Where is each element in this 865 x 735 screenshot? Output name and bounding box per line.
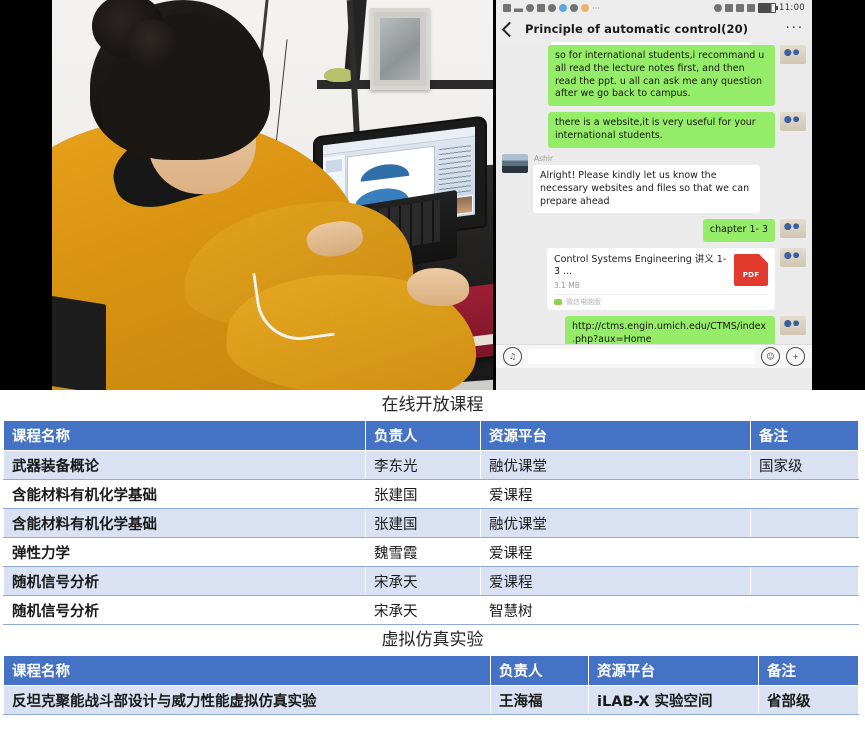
file-source-label: 微信电脑版 xyxy=(566,297,601,307)
cell-course-name: 随机信号分析 xyxy=(4,567,366,596)
emoji-icon[interactable]: ☺ xyxy=(761,347,780,366)
bubble-wrap: Ashir Alright! Please kindly let us know… xyxy=(528,154,760,213)
message-bubble-outgoing[interactable]: there is a website,it is very useful for… xyxy=(548,112,775,148)
table-row: 弹性力学 魏雪霞 爱课程 xyxy=(4,538,859,567)
pdf-icon: PDF xyxy=(734,254,768,286)
cell-owner: 张建国 xyxy=(366,480,481,509)
mute-icon xyxy=(548,4,556,12)
message-bubble-outgoing[interactable]: so for international students,i recomman… xyxy=(548,45,775,106)
chat-message-list[interactable]: so for international students,i recomman… xyxy=(496,42,812,368)
cell-remark xyxy=(751,538,859,567)
cell-remark: 省部级 xyxy=(759,686,859,715)
cell-owner: 王海福 xyxy=(491,686,589,715)
chat-message: chapter 1- 3 xyxy=(502,219,806,242)
hair-bun-secondary xyxy=(126,20,178,66)
secondary-monitor xyxy=(52,295,106,390)
wifi-icon xyxy=(526,4,534,12)
status-right-icons: 11:00 xyxy=(714,3,805,13)
cell-course-name: 含能材料有机化学基础 xyxy=(4,480,366,509)
cell-platform: 融优课堂 xyxy=(481,509,751,538)
file-card-top: Control Systems Engineering 讲义 1-3 ... 3… xyxy=(554,254,768,290)
chat-message: Ashir Alright! Please kindly let us know… xyxy=(502,154,806,213)
chat-message: there is a website,it is very useful for… xyxy=(502,112,806,148)
vibrate-icon xyxy=(747,4,755,12)
bubble-wrap: so for international students,i recomman… xyxy=(548,45,780,106)
wechat-screenshot: ··· 11:00 Principle of automatic control… xyxy=(496,0,812,390)
file-card[interactable]: Control Systems Engineering 讲义 1-3 ... 3… xyxy=(547,248,775,310)
cell-course-name: 弹性力学 xyxy=(4,538,366,567)
avatar[interactable] xyxy=(780,45,806,64)
cell-remark: 国家级 xyxy=(751,451,859,480)
file-name: Control Systems Engineering 讲义 1-3 ... xyxy=(554,254,728,279)
back-icon[interactable] xyxy=(502,21,518,37)
message-bubble-outgoing[interactable]: chapter 1- 3 xyxy=(703,219,775,242)
media-strip: ··· 11:00 Principle of automatic control… xyxy=(0,0,865,390)
cell-remark xyxy=(751,509,859,538)
message-bubble-incoming[interactable]: Alright! Please kindly let us know the n… xyxy=(533,165,760,213)
column-header-owner: 负责人 xyxy=(491,656,589,686)
signal-bars-icon xyxy=(514,4,523,12)
message-input[interactable] xyxy=(528,349,755,364)
person-right-hand xyxy=(407,268,469,306)
bluetooth-icon xyxy=(736,4,744,12)
cell-platform: 爱课程 xyxy=(481,538,751,567)
sim-card-icon xyxy=(503,4,511,12)
plus-icon[interactable]: + xyxy=(786,347,805,366)
table-header-row: 课程名称 负责人 资源平台 备注 xyxy=(4,421,859,451)
table-row: 含能材料有机化学基础 张建国 爱课程 xyxy=(4,480,859,509)
cell-course-name: 反坦克聚能战斗部设计与威力性能虚拟仿真实验 xyxy=(4,686,491,715)
file-card-meta: Control Systems Engineering 讲义 1-3 ... 3… xyxy=(554,254,734,290)
do-not-disturb-icon xyxy=(725,4,733,12)
ellipsis-icon: ··· xyxy=(592,4,600,13)
table-header-row: 课程名称 负责人 资源平台 备注 xyxy=(4,656,859,686)
location-icon xyxy=(570,4,578,12)
file-size: 3.1 MB xyxy=(554,281,728,290)
wechat-pc-icon xyxy=(554,299,562,305)
phone-status-bar: ··· 11:00 xyxy=(496,0,812,16)
cell-course-name: 随机信号分析 xyxy=(4,596,366,625)
chat-header: Principle of automatic control(20) ··· xyxy=(496,16,812,42)
bluetooth-dot-icon xyxy=(559,4,567,12)
table-row: 含能材料有机化学基础 张建国 融优课堂 xyxy=(4,509,859,538)
chat-title: Principle of automatic control(20) xyxy=(525,22,748,36)
cell-remark xyxy=(751,567,859,596)
camera-icon xyxy=(537,4,545,12)
avatar[interactable] xyxy=(502,154,528,173)
section-title-online-courses: 在线开放课程 xyxy=(0,390,865,420)
status-clock: 11:00 xyxy=(779,3,805,13)
table-row: 反坦克聚能战斗部设计与威力性能虚拟仿真实验 王海福 iLAB-X 实验空间 省部… xyxy=(4,686,859,715)
avatar[interactable] xyxy=(780,112,806,131)
chat-message: so for international students,i recomman… xyxy=(502,45,806,106)
screen-text-lines xyxy=(439,145,471,195)
table-row: 武器装备概论 李东光 融优课堂 国家级 xyxy=(4,451,859,480)
cell-course-name: 含能材料有机化学基础 xyxy=(4,509,366,538)
picture-frame xyxy=(370,8,430,90)
column-header-owner: 负责人 xyxy=(366,421,481,451)
cell-remark xyxy=(751,480,859,509)
sync-icon xyxy=(581,4,589,12)
more-options-icon[interactable]: ··· xyxy=(786,25,804,33)
classroom-photo xyxy=(52,0,493,390)
cell-owner: 宋承天 xyxy=(366,596,481,625)
column-header-remark: 备注 xyxy=(751,421,859,451)
cell-platform: 融优课堂 xyxy=(481,451,751,480)
avatar[interactable] xyxy=(780,248,806,267)
column-header-course-name: 课程名称 xyxy=(4,421,366,451)
cell-platform: iLAB-X 实验空间 xyxy=(589,686,759,715)
slide-chart-one xyxy=(354,157,416,183)
chat-input-bar[interactable]: ♫ ☺ + xyxy=(496,344,812,368)
table-row: 随机信号分析 宋承天 智慧树 xyxy=(4,596,859,625)
cell-platform: 爱课程 xyxy=(481,567,751,596)
cell-owner: 魏雪霞 xyxy=(366,538,481,567)
table-row: 随机信号分析 宋承天 爱课程 xyxy=(4,567,859,596)
cell-course-name: 武器装备概论 xyxy=(4,451,366,480)
cell-owner: 宋承天 xyxy=(366,567,481,596)
bubble-wrap: chapter 1- 3 xyxy=(703,219,780,242)
bubble-wrap: there is a website,it is very useful for… xyxy=(548,112,780,148)
eye-icon xyxy=(714,4,722,12)
column-header-remark: 备注 xyxy=(759,656,859,686)
sender-name: Ashir xyxy=(534,154,760,163)
avatar[interactable] xyxy=(780,316,806,335)
column-header-course-name: 课程名称 xyxy=(4,656,491,686)
column-header-platform: 资源平台 xyxy=(481,421,751,451)
pdf-label: PDF xyxy=(743,271,760,279)
cell-owner: 张建国 xyxy=(366,509,481,538)
cell-platform: 智慧树 xyxy=(481,596,751,625)
virtual-simulation-table: 课程名称 负责人 资源平台 备注 反坦克聚能战斗部设计与威力性能虚拟仿真实验 王… xyxy=(3,655,859,715)
avatar[interactable] xyxy=(780,219,806,238)
cell-remark xyxy=(751,596,859,625)
online-open-courses-table: 课程名称 负责人 资源平台 备注 武器装备概论 李东光 融优课堂 国家级 含能材… xyxy=(3,420,859,625)
column-header-platform: 资源平台 xyxy=(589,656,759,686)
battery-icon xyxy=(758,3,776,13)
cell-platform: 爱课程 xyxy=(481,480,751,509)
slide-thumbnail xyxy=(326,159,342,173)
file-card-footer: 微信电脑版 xyxy=(554,294,768,307)
chat-message-file: Control Systems Engineering 讲义 1-3 ... 3… xyxy=(502,248,806,310)
voice-input-icon[interactable]: ♫ xyxy=(503,347,522,366)
section-title-virtual-simulation: 虚拟仿真实验 xyxy=(0,625,865,655)
status-left-icons: ··· xyxy=(503,4,600,13)
cell-owner: 李东光 xyxy=(366,451,481,480)
